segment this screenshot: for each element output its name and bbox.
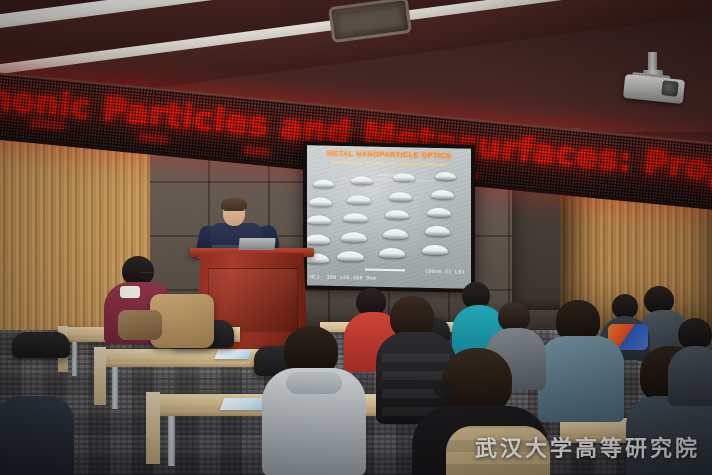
- presenter-glasses: [224, 210, 244, 215]
- slide-header: METAL NANOPARTICLE OPTICS from molecular…: [307, 148, 471, 183]
- attendee-glasses: [434, 382, 456, 398]
- desk-leg: [112, 367, 118, 409]
- desk-leg: [72, 342, 77, 376]
- attendee-far-left-dark: [0, 396, 74, 475]
- hood: [286, 372, 342, 394]
- shoulder-bag: [118, 310, 162, 340]
- presenter-laptop: [238, 238, 275, 250]
- chair: [12, 332, 70, 358]
- venue-watermark: 武汉大学高等研究院: [475, 431, 700, 463]
- sem-scale-text: 100nm EI L01: [425, 269, 465, 276]
- shirt-collar: [120, 286, 140, 298]
- desk-side-panel: [94, 347, 106, 405]
- lecture-hall-photo: smonic Particles and Metasurfaces: Prope…: [0, 0, 712, 475]
- projection-screen-frame: METAL NANOPARTICLE OPTICS from molecular…: [303, 141, 475, 293]
- projector: [618, 52, 690, 108]
- projection-screen: METAL NANOPARTICLE OPTICS from molecular…: [307, 145, 471, 288]
- handout-paper: [214, 350, 252, 359]
- desk-leg: [168, 416, 175, 466]
- desk-side-panel: [146, 392, 160, 464]
- attendee-glasses: [140, 272, 154, 276]
